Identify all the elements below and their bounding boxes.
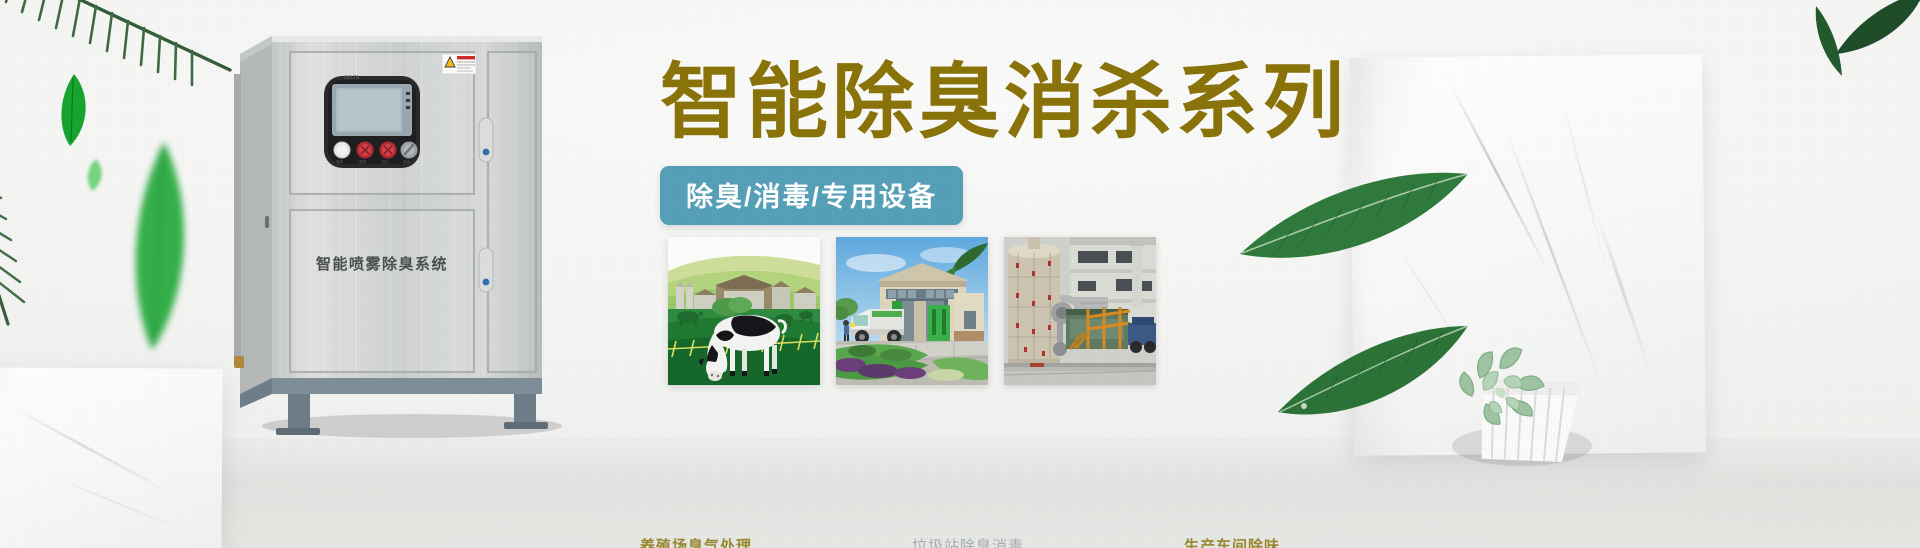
green-leaf-blurred-icon: [108, 138, 206, 358]
svg-text:停止: 停止: [382, 159, 389, 164]
potted-succulent: [1404, 296, 1594, 471]
svg-text:DELTA: DELTA: [344, 75, 360, 81]
palm-frond-top-left-icon: [0, 0, 240, 86]
headline-block: 智能除臭消杀系列 除臭/消毒/专用设备: [660, 62, 1348, 225]
floor-shadow: [0, 438, 1920, 548]
thumbnail-transfer-station[interactable]: [836, 237, 988, 385]
banana-leaf-far-right-icon: [1806, 0, 1920, 102]
thumbnail-dairy-farm[interactable]: [668, 237, 820, 385]
svg-text:电源: 电源: [336, 159, 343, 164]
page-title: 智能除臭消杀系列: [660, 62, 1348, 144]
green-leaf-tiny-icon: [82, 158, 108, 192]
svg-text:手动: 手动: [403, 159, 410, 164]
promo-banner: DELTA 电源急停 停止手动: [0, 0, 1920, 548]
marble-panel-left: [0, 367, 223, 548]
odor-removal-cabinet: DELTA 电源急停 停止手动: [232, 26, 582, 438]
svg-text:急停: 急停: [359, 159, 366, 164]
thumbnail-scrubber-equipment[interactable]: [1004, 237, 1156, 385]
thumbnail-strip: [668, 237, 1156, 385]
svg-text:智能喷雾除臭系统: 智能喷雾除臭系统: [316, 255, 448, 273]
green-leaf-small-icon: [52, 72, 94, 152]
subtitle-badge: 除臭/消毒/专用设备: [660, 166, 963, 225]
